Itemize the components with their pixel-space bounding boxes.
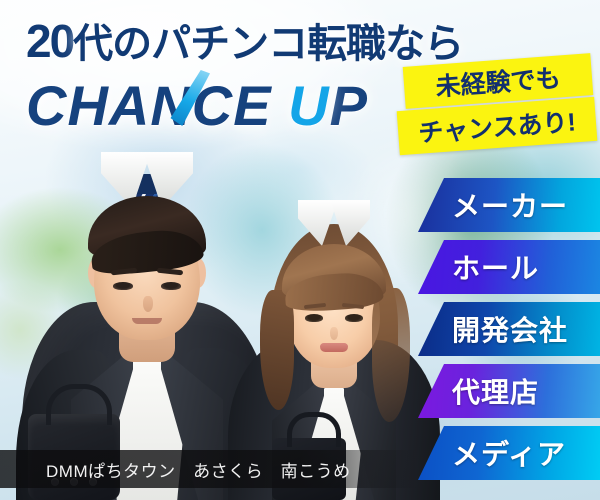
category-button-agency[interactable]: 代理店 bbox=[418, 364, 600, 418]
logo-letter-u-highlight: U bbox=[288, 78, 329, 134]
credit-text: DMMぱちタウン あさくら 南こうめ bbox=[46, 457, 351, 482]
male-eye-right bbox=[161, 282, 181, 290]
female-mouth bbox=[320, 343, 348, 352]
female-hair-strand-left bbox=[260, 290, 294, 410]
logo-letter-p: P bbox=[330, 74, 368, 137]
male-eye-left bbox=[113, 282, 133, 290]
headline-number: 20 bbox=[26, 15, 73, 67]
female-eye-left bbox=[305, 314, 323, 322]
category-label: 代理店 bbox=[452, 371, 539, 411]
female-nose bbox=[330, 327, 338, 340]
category-button-development-company[interactable]: 開発会社 bbox=[418, 302, 600, 356]
category-button-hall[interactable]: ホール bbox=[418, 240, 600, 294]
status-badge: 未経験でも チャンスあり! bbox=[398, 58, 598, 158]
people-photo-group bbox=[0, 150, 440, 500]
male-mouth bbox=[132, 318, 162, 324]
credit-bar: DMMぱちタウン あさくら 南こうめ bbox=[0, 450, 418, 488]
category-button-media[interactable]: メディア bbox=[418, 426, 600, 480]
logo-text-chance: CHANCE bbox=[26, 74, 288, 137]
category-label: メディア bbox=[452, 433, 566, 473]
female-eye-right bbox=[345, 314, 363, 322]
category-label: 開発会社 bbox=[452, 309, 568, 349]
category-list: メーカー ホール 開発会社 代理店 メディア bbox=[418, 178, 600, 488]
category-label: ホール bbox=[452, 247, 539, 287]
recruitment-banner: 20代のパチンコ転職なら CHANCE UP 未経験でも チャンスあり! メーカ… bbox=[0, 0, 600, 500]
category-label: メーカー bbox=[452, 185, 568, 225]
category-button-maker[interactable]: メーカー bbox=[418, 178, 600, 232]
male-nose bbox=[143, 296, 153, 312]
